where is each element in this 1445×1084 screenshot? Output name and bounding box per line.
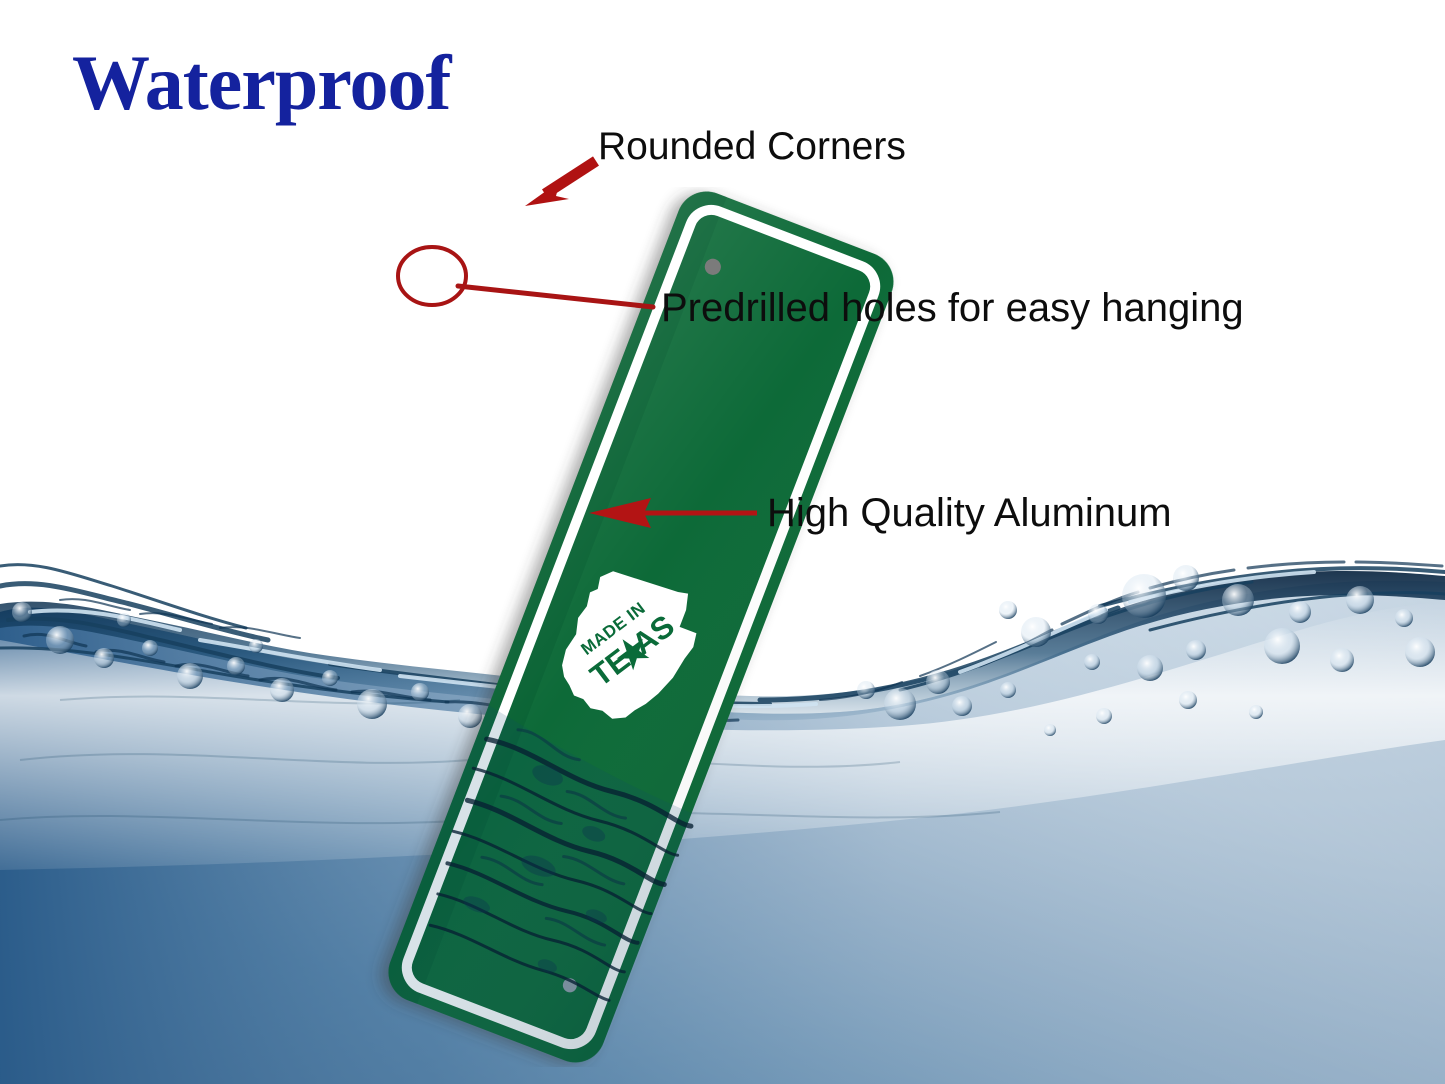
callout-label-high-quality-aluminum: High Quality Aluminum bbox=[767, 493, 1172, 533]
callout-label-predrilled-holes: Predrilled holes for easy hanging bbox=[661, 288, 1244, 328]
callout-label-rounded-corners: Rounded Corners bbox=[598, 127, 906, 166]
page-title: Waterproof bbox=[72, 44, 450, 122]
product-feature-graphic: MADE IN TE AS ★ bbox=[0, 0, 1445, 1084]
